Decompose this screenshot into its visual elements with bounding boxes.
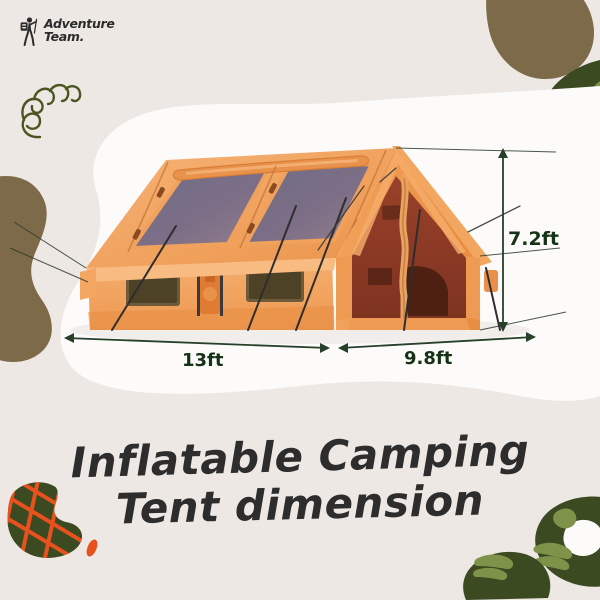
dimension-arrow-height[interactable] [498,148,508,332]
page-title: Inflatable Camping Tent dimension [0,436,600,527]
dimension-label-depth: 9.8ft [404,348,452,369]
tent-door-zipper [403,178,405,318]
tent-left-flap [80,268,96,300]
dimension-label-height: 7.2ft [508,228,559,250]
brand-name: Adventure Team. [44,18,115,44]
brand-name-line2: Team. [44,31,115,44]
hiker-with-backpack-icon [14,16,40,46]
tent-product-image [0,0,600,440]
poster-canvas: Adventure Team. [0,0,600,600]
brand-logo[interactable]: Adventure Team. [14,16,115,46]
dimension-label-width: 13ft [182,350,223,371]
